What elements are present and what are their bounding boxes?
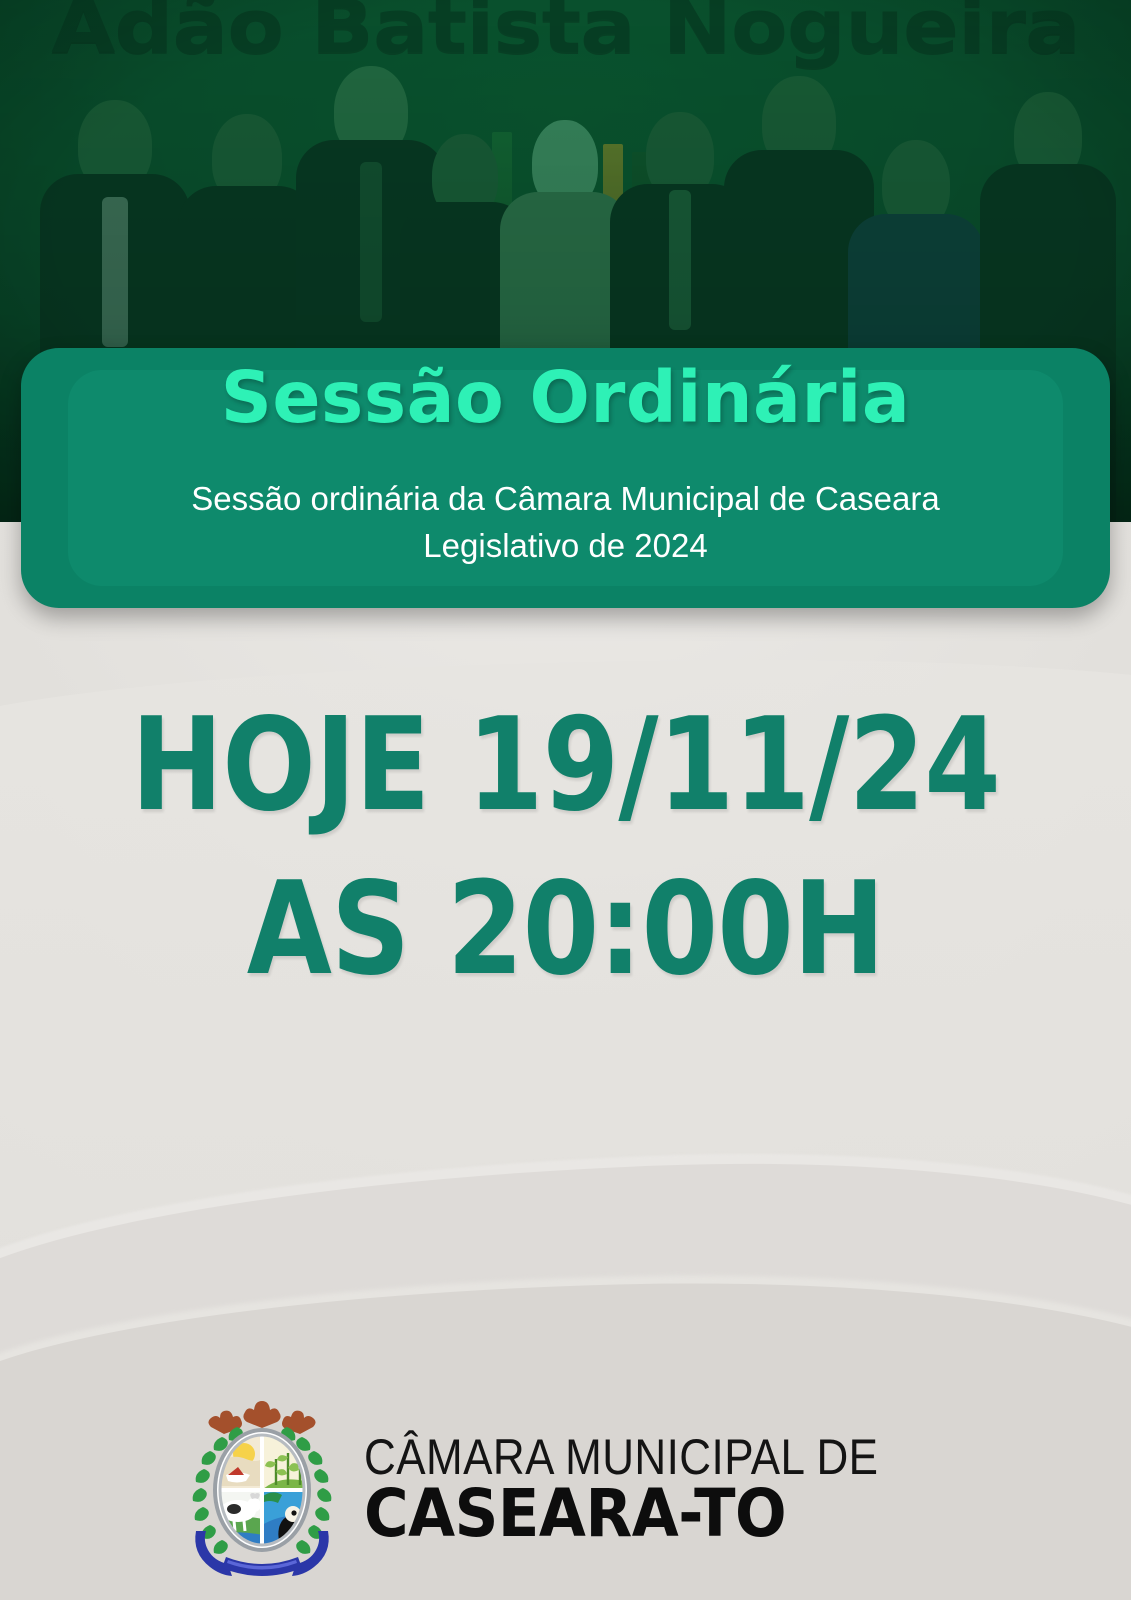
announcement-date-line: HOJE 19/11/24 xyxy=(79,684,1052,848)
footer-logo-text: CÂMARA MUNICIPAL DE CASEARA-TO xyxy=(364,1434,949,1545)
footer-logo: CÂMARA MUNICIPAL DE CASEARA-TO xyxy=(0,1397,1131,1582)
announcement-block: HOJE 19/11/24 AS 20:00H xyxy=(0,684,1131,1012)
session-subtitle: Sessão ordinária da Câmara Municipal de … xyxy=(81,476,1050,570)
footer-logo-line-2: CASEARA-TO xyxy=(364,1484,902,1545)
poster-canvas: Adão Batista Nogueira xyxy=(0,0,1131,1600)
session-title: Sessão Ordinária xyxy=(21,362,1110,434)
announcement-time-line: AS 20:00H xyxy=(79,848,1052,1012)
footer-logo-line-1: CÂMARA MUNICIPAL DE xyxy=(364,1434,878,1480)
coat-of-arms-icon xyxy=(182,1397,342,1582)
session-card: Sessão Ordinária Sessão ordinária da Câm… xyxy=(21,348,1110,608)
